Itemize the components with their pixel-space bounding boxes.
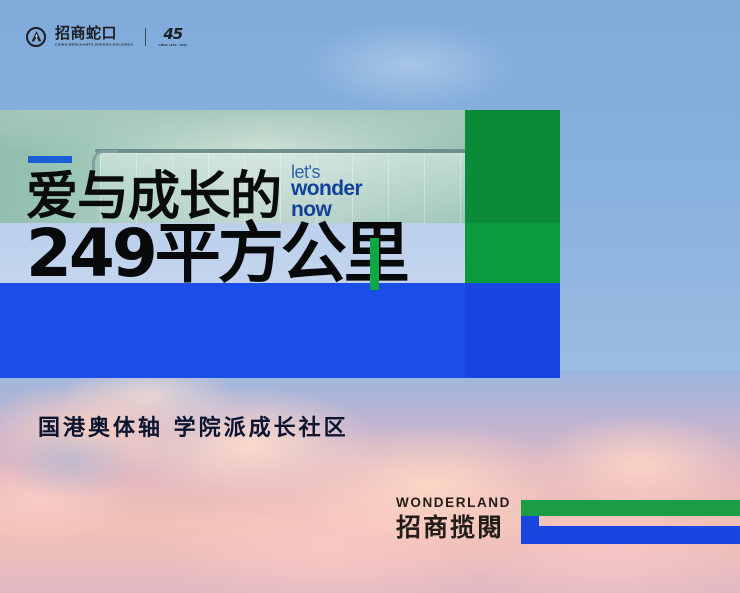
roof-corner <box>92 150 118 176</box>
roof-line <box>95 149 465 153</box>
brand-bar-green <box>521 500 740 516</box>
developer-logo-lockup: 招商蛇口 CHINA MERCHANTS SHEKOU HOLDINGS 45 … <box>26 26 187 48</box>
green-color-block-lower <box>465 223 560 283</box>
marketing-poster: 招商蛇口 CHINA MERCHANTS SHEKOU HOLDINGS 45 … <box>0 0 740 593</box>
brand-bar-stub <box>521 500 539 544</box>
developer-name-en: CHINA MERCHANTS SHEKOU HOLDINGS <box>55 43 133 47</box>
blue-color-band-inner <box>0 283 465 378</box>
anniversary-glyph: 45 <box>163 27 182 42</box>
glass-facade <box>100 154 465 223</box>
anniversary-45-icon: 45 CMSK 1979 - 2024 <box>158 27 187 48</box>
logo-divider <box>145 28 146 46</box>
brand-bar-blue <box>521 526 740 544</box>
project-brand-cn: 招商揽閱 <box>396 515 511 540</box>
sky-haze-cloud <box>300 20 520 110</box>
blue-color-band <box>0 283 560 378</box>
architecture-photo <box>0 110 465 223</box>
project-brand-words: WONDERLAND 招商揽閱 <box>396 496 511 540</box>
subtitle-text: 国港奥体轴 学院派成长社区 <box>38 410 349 442</box>
merchants-anchor-icon <box>26 27 46 47</box>
developer-name-block: 招商蛇口 CHINA MERCHANTS SHEKOU HOLDINGS <box>55 26 133 48</box>
key-visual-panel: 爱与成长的 let's wonder now 249平方公里 国港奥体轴 学院派… <box>0 110 560 378</box>
brand-bar-group <box>521 500 740 544</box>
photo-haze-overlay <box>0 110 465 150</box>
project-brand-lockup: WONDERLAND 招商揽閱 <box>396 496 511 540</box>
developer-name-cn: 招商蛇口 <box>55 26 133 42</box>
pale-slab <box>0 223 465 283</box>
anniversary-caption: CMSK 1979 - 2024 <box>158 43 187 47</box>
project-brand-en: WONDERLAND <box>396 496 511 510</box>
